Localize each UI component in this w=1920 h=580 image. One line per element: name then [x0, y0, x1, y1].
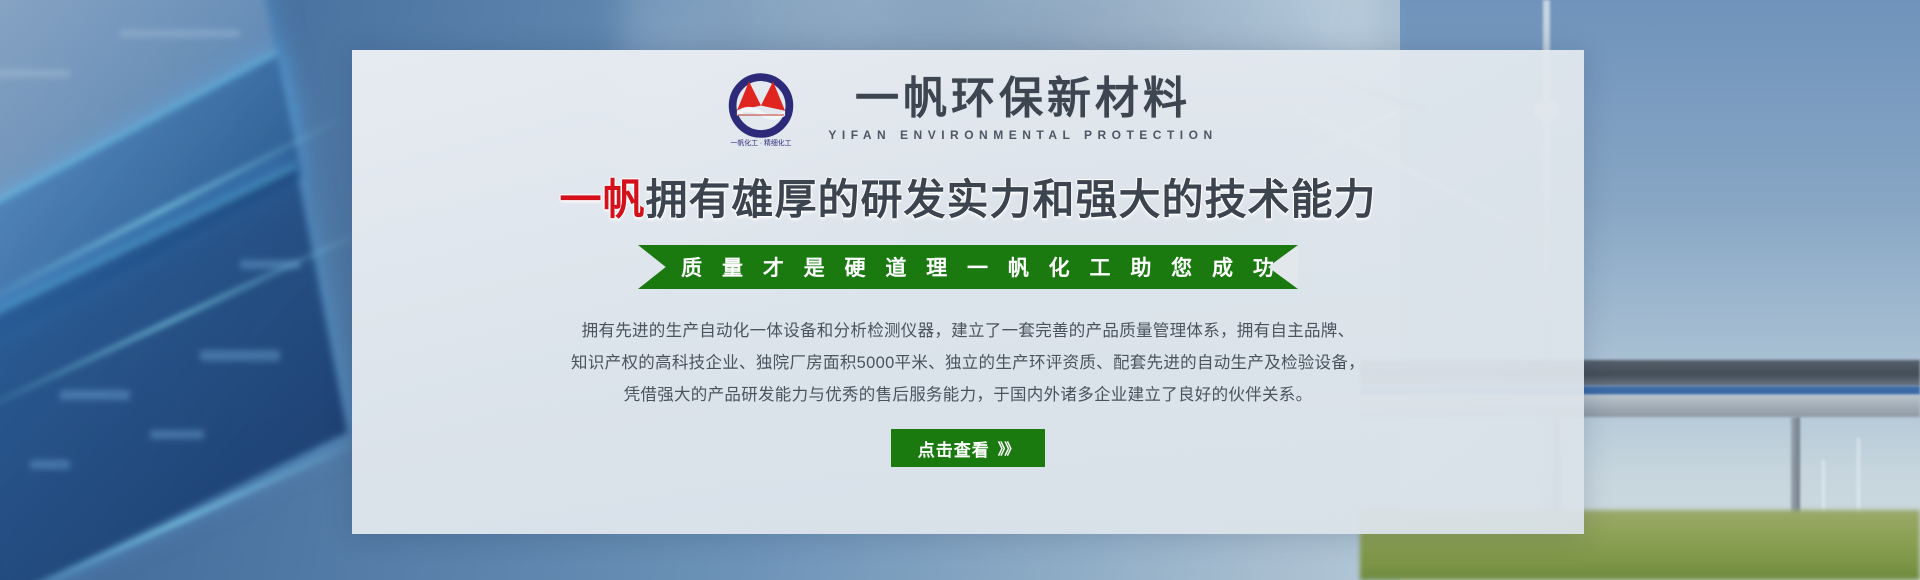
hero-banner: 一帆化工 · 精细化工 一帆环保新材料 YIFAN ENVIRONMENTAL …: [0, 0, 1920, 580]
headline-highlight: 一帆: [559, 176, 645, 223]
brand-lockup: 一帆化工 · 精细化工 一帆环保新材料 YIFAN ENVIRONMENTAL …: [718, 66, 1217, 152]
headline-rest: 拥有雄厚的研发实力和强大的技术能力: [646, 176, 1377, 223]
view-details-button[interactable]: 点击查看 》》: [891, 429, 1045, 467]
slogan-ribbon-wrapper: 质 量 才 是 硬 道 理 一 帆 化 工 助 您 成 功: [638, 245, 1298, 289]
circuit-trace: [30, 460, 70, 469]
description-paragraph: 拥有先进的生产自动化一体设备和分析检测仪器，建立了一套完善的产品质量管理体系，拥…: [468, 315, 1468, 411]
content-card: 一帆化工 · 精细化工 一帆环保新材料 YIFAN ENVIRONMENTAL …: [352, 50, 1584, 534]
circuit-trace: [150, 430, 204, 439]
double-chevron-right-icon: 》》: [998, 438, 1019, 459]
description-line: 凭借强大的产品研发能力与优秀的售后服务能力，于国内外诸多企业建立了良好的伙伴关系…: [468, 379, 1468, 411]
far-turbine: [1857, 438, 1860, 518]
description-line: 拥有先进的生产自动化一体设备和分析检测仪器，建立了一套完善的产品质量管理体系，拥…: [468, 315, 1468, 347]
circuit-trace: [120, 30, 240, 37]
view-details-label: 点击查看: [918, 436, 990, 461]
circuit-trace: [240, 260, 300, 269]
circuit-trace: [0, 70, 70, 77]
description-line: 知识产权的高科技企业、独院厂房面积5000平米、独立的生产环评资质、配套先进的自…: [468, 347, 1468, 379]
headline: 一帆拥有雄厚的研发实力和强大的技术能力: [559, 166, 1376, 227]
yifan-logo-icon: 一帆化工 · 精细化工: [718, 66, 804, 152]
brand-name-en: YIFAN ENVIRONMENTAL PROTECTION: [828, 128, 1217, 142]
circuit-trace: [60, 390, 130, 400]
slogan-ribbon: 质 量 才 是 硬 道 理 一 帆 化 工 助 您 成 功: [638, 245, 1298, 289]
brand-name-cn: 一帆环保新材料: [855, 76, 1191, 122]
circuit-trace: [200, 350, 280, 361]
logo-inner-text: 一帆化工 · 精细化工: [731, 138, 792, 147]
slogan-text: 质 量 才 是 硬 道 理 一 帆 化 工 助 您 成 功: [655, 252, 1281, 282]
